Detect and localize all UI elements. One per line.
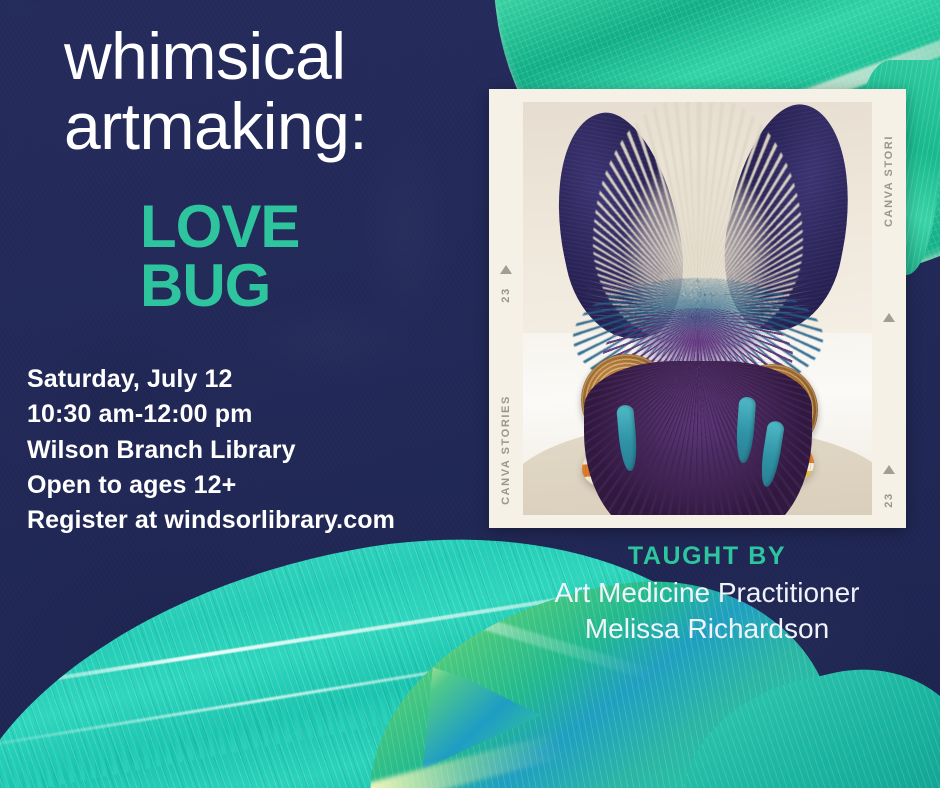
- love-bug-puppet-photo: [523, 102, 872, 515]
- triangle-marker-icon: [883, 313, 895, 322]
- frame-left-number: 23: [500, 287, 512, 302]
- event-registration[interactable]: Register at windsorlibrary.com: [27, 503, 395, 538]
- poster-headline: LOVE BUG: [140, 198, 299, 316]
- event-location: Wilson Branch Library: [27, 433, 395, 468]
- title-line-2: artmaking:: [64, 92, 484, 162]
- film-border-right: CANVA STORI 23: [872, 89, 906, 528]
- frame-left-brand: CANVA STORIES: [500, 395, 512, 505]
- poster-title: whimsical artmaking:: [64, 22, 484, 162]
- puppet-photo-frame: 23 CANVA STORIES CANVA STORI 23: [489, 89, 906, 528]
- event-time: 10:30 am-12:00 pm: [27, 397, 395, 432]
- headline-line-2: BUG: [140, 257, 299, 316]
- event-age-requirement: Open to ages 12+: [27, 468, 395, 503]
- frame-right-number: 23: [883, 492, 895, 507]
- triangle-marker-icon: [500, 265, 512, 274]
- instructor-role: Art Medicine Practitioner: [487, 575, 927, 611]
- event-poster: 23 CANVA STORIES CANVA STORI 23: [0, 0, 940, 788]
- puppet-body-fur: [563, 359, 833, 509]
- frame-right-brand: CANVA STORI: [883, 135, 895, 227]
- event-details: Saturday, July 12 10:30 am-12:00 pm Wils…: [27, 362, 395, 538]
- event-date: Saturday, July 12: [27, 362, 395, 397]
- instructor-name: Melissa Richardson: [487, 611, 927, 647]
- taught-by-label: TAUGHT BY: [487, 542, 927, 571]
- film-border-left: 23 CANVA STORIES: [489, 89, 523, 528]
- triangle-marker-icon: [883, 465, 895, 474]
- headline-line-1: LOVE: [140, 198, 299, 257]
- title-line-1: whimsical: [64, 22, 484, 92]
- instructor-credit: TAUGHT BY Art Medicine Practitioner Meli…: [487, 542, 927, 647]
